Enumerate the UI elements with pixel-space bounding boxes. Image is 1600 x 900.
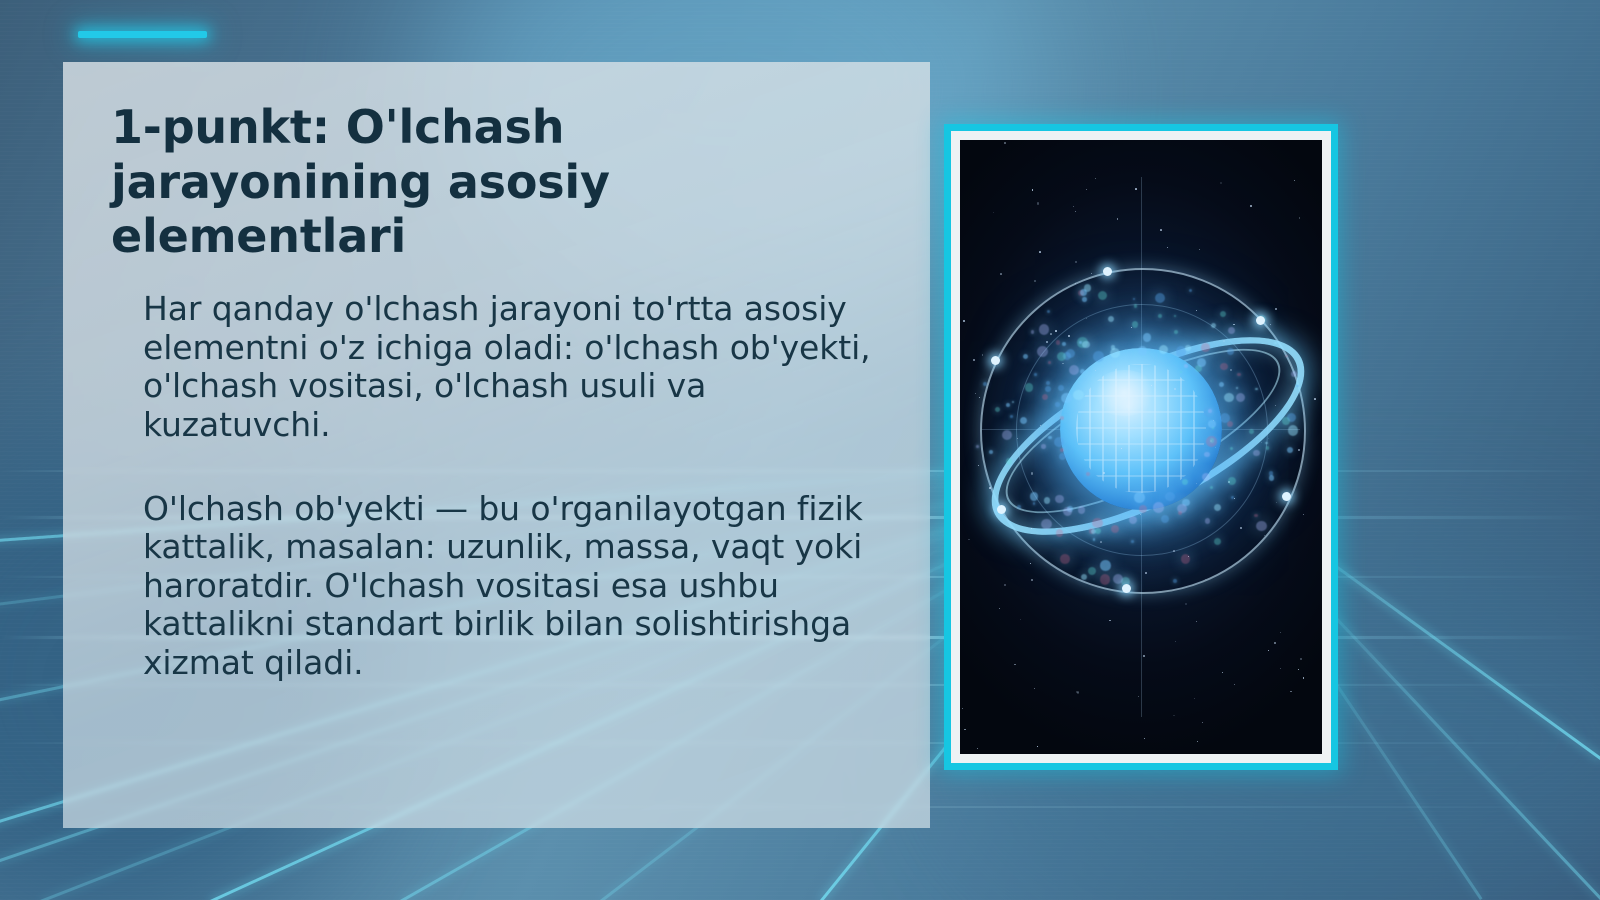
molecule-particle <box>1228 327 1235 334</box>
molecule-particle <box>1282 417 1290 425</box>
molecule-particle <box>1055 402 1060 407</box>
molecule-particle <box>1017 505 1021 509</box>
molecule-particle <box>1255 388 1258 391</box>
molecule-particle <box>1110 348 1120 358</box>
slide-root: 1-punkt: O'lchash jarayonining asosiy el… <box>0 0 1600 900</box>
accent-bar <box>78 31 207 38</box>
star-particle <box>1140 514 1141 515</box>
star-particle <box>1004 142 1006 144</box>
molecule-particle <box>1073 390 1083 400</box>
molecule-particle <box>1058 385 1064 391</box>
star-particle <box>1298 449 1299 450</box>
star-particle <box>1314 398 1316 400</box>
molecule-particle <box>1100 560 1111 571</box>
body-paragraph-2: O'lchash ob'yekti — bu o'rganilayotgan f… <box>143 490 883 683</box>
star-particle <box>1030 563 1031 564</box>
molecule-particle <box>1204 452 1210 458</box>
star-particle <box>1135 188 1137 190</box>
star-particle <box>1014 664 1015 665</box>
molecule-particle <box>1057 352 1066 361</box>
content-card-inner: 1-punkt: O'lchash jarayonining asosiy el… <box>63 62 930 828</box>
star-particle <box>1037 202 1039 204</box>
star-particle <box>1274 642 1276 644</box>
star-particle <box>1034 688 1035 689</box>
molecule-particle <box>1041 444 1045 448</box>
star-particle <box>1073 206 1074 207</box>
star-particle <box>989 487 991 489</box>
orbit-node <box>997 505 1006 514</box>
star-particle <box>1275 308 1277 310</box>
molecule-particle <box>1061 393 1071 403</box>
body-paragraph-1: Har qanday o'lchash jarayoni to'rtta aso… <box>143 290 883 444</box>
molecule-particle <box>1034 373 1037 376</box>
star-particle <box>1205 579 1206 580</box>
molecule-particle <box>1056 529 1063 536</box>
molecule-particle <box>1033 502 1036 505</box>
molecule-particle <box>1066 349 1075 358</box>
page-title: 1-punkt: O'lchash jarayonining asosiy el… <box>111 100 711 264</box>
molecule-particle <box>1143 333 1151 341</box>
molecule-particle <box>1269 475 1275 481</box>
star-particle <box>1240 527 1242 529</box>
star-particle <box>1068 335 1070 337</box>
molecule-particle <box>1138 346 1147 355</box>
molecule-particle <box>1113 574 1123 584</box>
molecule-particle <box>1228 477 1236 485</box>
star-particle <box>1075 211 1076 212</box>
molecule-particle <box>1269 471 1273 475</box>
star-particle <box>1173 550 1175 552</box>
molecule-particle <box>1153 502 1164 513</box>
star-particle <box>1140 394 1141 395</box>
molecule-particle <box>1086 472 1090 476</box>
star-particle <box>1197 741 1198 742</box>
molecule-particle <box>1220 311 1226 317</box>
star-particle <box>1100 541 1102 543</box>
molecule-particle <box>1081 574 1087 580</box>
star-particle <box>1050 333 1052 335</box>
star-particle <box>1199 249 1200 250</box>
molecule-particle <box>1047 310 1050 313</box>
molecule-particle <box>1082 297 1087 302</box>
molecule-particle <box>1023 354 1028 359</box>
orbit-node <box>1103 267 1112 276</box>
star-particle <box>1167 247 1168 248</box>
star-particle <box>1000 273 1002 275</box>
molecule-particle <box>1054 437 1064 447</box>
star-particle <box>1303 514 1304 515</box>
molecule-particle <box>1012 401 1014 403</box>
star-particle <box>1175 641 1176 642</box>
illustration-image <box>960 140 1322 754</box>
star-particle <box>1268 650 1269 651</box>
illustration-frame <box>944 124 1338 770</box>
molecule-particle <box>1098 291 1107 300</box>
molecule-particle <box>1037 346 1048 357</box>
molecule-particle <box>1288 425 1299 436</box>
molecule-particle <box>1214 538 1221 545</box>
star-particle <box>1086 189 1087 190</box>
body-text-block: Har qanday o'lchash jarayoni to'rtta aso… <box>143 290 883 682</box>
molecule-particle <box>1173 579 1177 583</box>
star-particle <box>1039 251 1041 253</box>
molecule-particle <box>1048 361 1051 364</box>
star-particle <box>1294 180 1295 181</box>
star-particle <box>1032 189 1033 190</box>
star-particle <box>1091 273 1092 274</box>
molecule-particle <box>1069 365 1079 375</box>
star-particle <box>1234 498 1235 499</box>
molecule-particle <box>1159 345 1168 354</box>
molecule-particle <box>1092 518 1103 529</box>
star-particle <box>1037 746 1038 747</box>
molecule-particle <box>1082 341 1089 348</box>
molecule-particle <box>1031 330 1034 333</box>
molecule-particle <box>1048 436 1051 439</box>
star-particle <box>1031 528 1032 529</box>
molecule-particle <box>1133 298 1135 300</box>
star-particle <box>1299 217 1301 219</box>
molecule-particle <box>1236 393 1245 402</box>
molecule-particle <box>1165 492 1174 501</box>
molecule-particle <box>1134 304 1138 308</box>
star-particle <box>973 359 975 361</box>
star-particle <box>1145 572 1147 574</box>
molecule-particle <box>1224 393 1233 402</box>
star-particle <box>1261 442 1262 443</box>
star-particle <box>1031 472 1033 474</box>
star-particle <box>968 539 969 540</box>
molecule-particle <box>1161 515 1169 523</box>
molecule-particle <box>1044 497 1051 504</box>
molecule-particle <box>1079 341 1081 343</box>
molecule-particle <box>1197 358 1206 367</box>
molecule-particle <box>1056 340 1060 344</box>
star-particle <box>1233 324 1234 325</box>
molecule-particle <box>1266 446 1270 450</box>
orbit-node <box>991 356 1000 365</box>
molecule-particle <box>1030 492 1038 500</box>
molecule-particle <box>1287 447 1293 453</box>
star-particle <box>1173 715 1174 716</box>
molecule-particle <box>1059 453 1066 460</box>
star-particle <box>978 465 979 466</box>
molecule-particle <box>989 450 993 454</box>
star-particle <box>1194 698 1195 699</box>
molecule-particle <box>1134 492 1144 502</box>
illustration-mat <box>951 131 1331 763</box>
molecule-particle <box>1139 505 1147 513</box>
molecule-particle <box>1208 409 1212 413</box>
molecule-particle <box>1010 415 1013 418</box>
molecule-particle <box>1185 345 1190 350</box>
star-particle <box>1004 584 1006 586</box>
molecule-particle <box>1045 386 1051 392</box>
molecule-particle <box>1039 324 1050 335</box>
star-particle <box>1196 621 1197 622</box>
molecule-particle <box>1296 385 1298 387</box>
molecule-particle <box>1060 448 1064 452</box>
star-particle <box>1075 261 1076 262</box>
star-particle <box>1275 405 1276 406</box>
molecule-particle <box>1060 554 1070 564</box>
molecule-particle <box>1062 342 1066 346</box>
star-particle <box>1075 283 1076 284</box>
star-particle <box>1055 330 1057 332</box>
molecule-particle <box>1100 574 1110 584</box>
molecule-particle <box>1063 507 1072 516</box>
molecule-particle <box>976 445 979 448</box>
molecule-particle <box>1201 343 1210 352</box>
molecule-particle <box>1131 540 1134 543</box>
star-particle <box>1138 696 1139 697</box>
content-card: 1-punkt: O'lchash jarayonining asosiy el… <box>63 62 930 828</box>
star-particle <box>1151 385 1152 386</box>
molecule-particle <box>1202 473 1210 481</box>
molecule-particle <box>1006 403 1010 407</box>
molecule-particle <box>1220 363 1227 370</box>
molecule-particle <box>1253 450 1260 457</box>
star-particle <box>1020 619 1021 620</box>
star-particle <box>1223 340 1225 342</box>
